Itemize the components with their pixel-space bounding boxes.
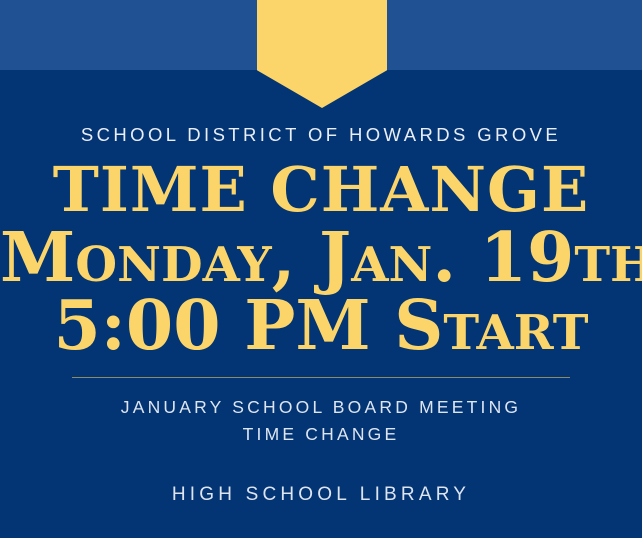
subtitle-line-1: January School Board Meeting (0, 394, 642, 421)
divider-rule (72, 377, 570, 378)
subtitle-line-2: Time Change (0, 421, 642, 448)
subtitle-block: January School Board Meeting Time Change (0, 394, 642, 448)
venue-location: High School Library (0, 484, 642, 506)
headline-line-2: Monday, Jan. 19th (0, 225, 642, 292)
headline-block: Time Change Monday, Jan. 19th 5:00 PM St… (0, 160, 642, 360)
organization-name: School District of Howards Grove (0, 124, 642, 146)
headline-line-3: 5:00 PM Start (0, 293, 642, 360)
poster-content: School District of Howards Grove Time Ch… (0, 0, 642, 538)
announcement-poster: School District of Howards Grove Time Ch… (0, 0, 642, 538)
headline-line-1: Time Change (0, 160, 642, 221)
